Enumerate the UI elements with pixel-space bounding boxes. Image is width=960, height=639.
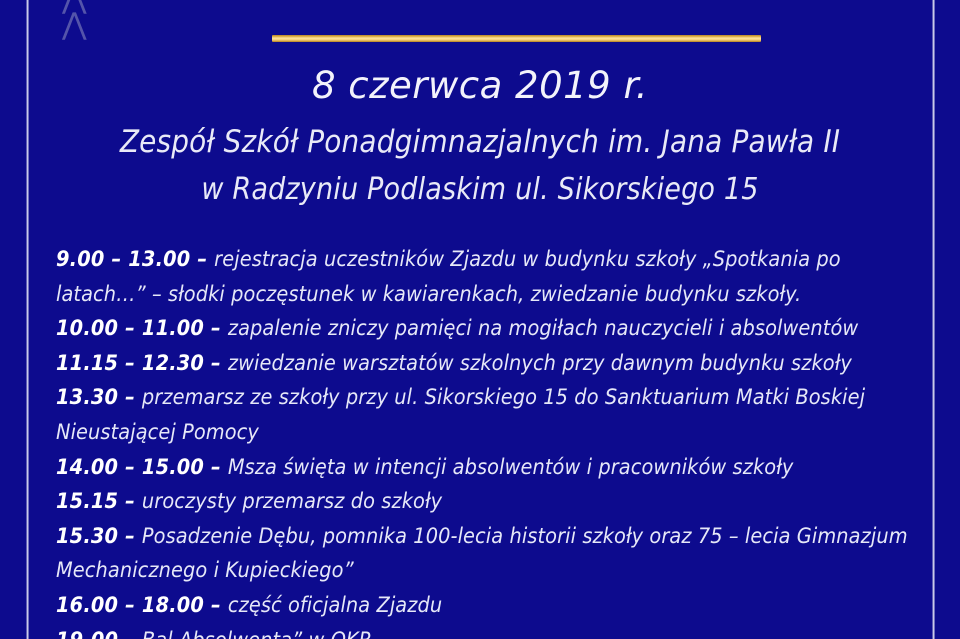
schedule-item: 16.00 – 18.00 – część oficjalna Zjazdu [56,589,916,624]
schedule-item-time: 19.00 – [56,628,142,639]
schedule-item: 13.30 – przemarsz ze szkoły przy ul. Sik… [56,381,916,450]
event-date: 8 czerwca 2019 r. [30,64,930,108]
schedule-list: 9.00 – 13.00 – rejestracja uczestników Z… [56,243,916,639]
schedule-item-description: część oficjalna Zjazdu [228,593,442,618]
schedule-item-description: Bal Absolwenta” w OKR [142,628,372,639]
schedule-item-time: 11.15 – 12.30 – [56,351,228,376]
venue-school-name: Zespół Szkół Ponadgimnazjalnych im. Jana… [30,118,930,166]
schedule-item-time: 14.00 – 15.00 – [56,455,228,480]
presentation-slide: ⋀ ⋀ 8 czerwca 2019 r. Zespół Szkół Ponad… [0,0,960,639]
schedule-item: 15.30 – Posadzenie Dębu, pomnika 100-lec… [56,520,916,589]
schedule-item-time: 16.00 – 18.00 – [56,593,228,618]
schedule-item-description: zwiedzanie warsztatów szkolnych przy daw… [228,351,852,376]
left-border-rule [26,0,29,639]
schedule-item-description: Posadzenie Dębu, pomnika 100-lecia histo… [56,524,908,584]
chevron-ornament-icon: ⋀ ⋀ [62,0,146,12]
gold-divider-rule [272,35,761,42]
schedule-item-time: 10.00 – 11.00 – [56,316,228,341]
schedule-item-description: zapalenie zniczy pamięci na mogiłach nau… [228,316,858,341]
schedule-item-time: 15.30 – [56,524,142,549]
schedule-item-description: przemarsz ze szkoły przy ul. Sikorskiego… [56,385,865,445]
schedule-item: 11.15 – 12.30 – zwiedzanie warsztatów sz… [56,347,916,382]
venue-address: w Radzyniu Podlaskim ul. Sikorskiego 15 [30,166,930,214]
schedule-item: 9.00 – 13.00 – rejestracja uczestników Z… [56,243,916,312]
schedule-item-description: uroczysty przemarsz do szkoły [142,489,442,514]
schedule-item-description: Msza święta w intencji absolwentów i pra… [228,455,794,480]
schedule-item: 19.00 – Bal Absolwenta” w OKR [56,624,916,639]
right-border-rule [932,0,935,639]
slide-header: 8 czerwca 2019 r. Zespół Szkół Ponadgimn… [30,64,930,214]
schedule-item-time: 15.15 – [56,489,142,514]
schedule-item-time: 13.30 – [56,385,142,410]
schedule-item: 14.00 – 15.00 – Msza święta w intencji a… [56,451,916,486]
schedule-item: 15.15 – uroczysty przemarsz do szkoły [56,485,916,520]
schedule-item: 10.00 – 11.00 – zapalenie zniczy pamięci… [56,312,916,347]
schedule-item-time: 9.00 – 13.00 – [56,247,214,272]
